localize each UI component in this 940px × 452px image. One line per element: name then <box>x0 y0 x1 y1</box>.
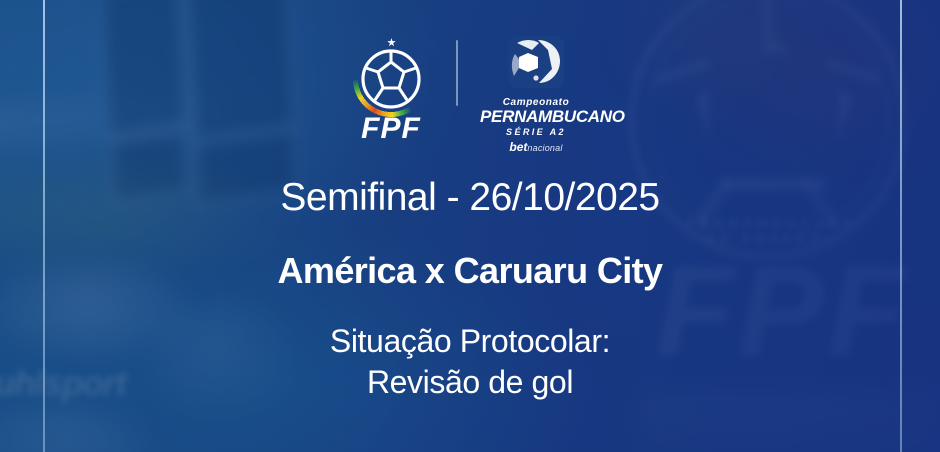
stage-and-date-text: Semifinal - 26/10/2025 <box>0 178 940 217</box>
protocol-status-value: Revisão de gol <box>0 362 940 403</box>
sponsor-nacional-text: nacional <box>527 143 562 153</box>
competition-ball-mark-icon <box>508 36 564 88</box>
protocol-status-block: Situação Protocolar: Revisão de gol <box>0 321 940 403</box>
match-status-graphic: uhlsport PERNAMBUCANA DE FUTEBOL FPF <box>0 0 940 452</box>
match-copy-block: Semifinal - 26/10/2025 América x Caruaru… <box>0 178 940 403</box>
competition-logo: Campeonato PERNAMBUCANO SÉRIE A2 betnaci… <box>480 36 592 153</box>
sponsor-betnacional-logo: betnacional <box>480 141 592 153</box>
fpf-wordmark: FPF <box>348 112 434 146</box>
logo-lockup: FPF Campeonato PERNAMBUCANO SÉRIE A2 bet… <box>0 36 940 153</box>
fpf-federation-logo: FPF <box>348 36 434 144</box>
match-teams-text: América x Caruaru City <box>0 253 940 289</box>
competition-line-pernambucano: PERNAMBUCANO <box>480 108 592 126</box>
sponsor-bet-text: bet <box>509 140 527 154</box>
soccer-ball-icon <box>360 48 422 110</box>
protocol-status-label: Situação Protocolar: <box>0 321 940 362</box>
logo-divider <box>456 40 458 106</box>
competition-line-serie: SÉRIE A2 <box>480 126 592 139</box>
